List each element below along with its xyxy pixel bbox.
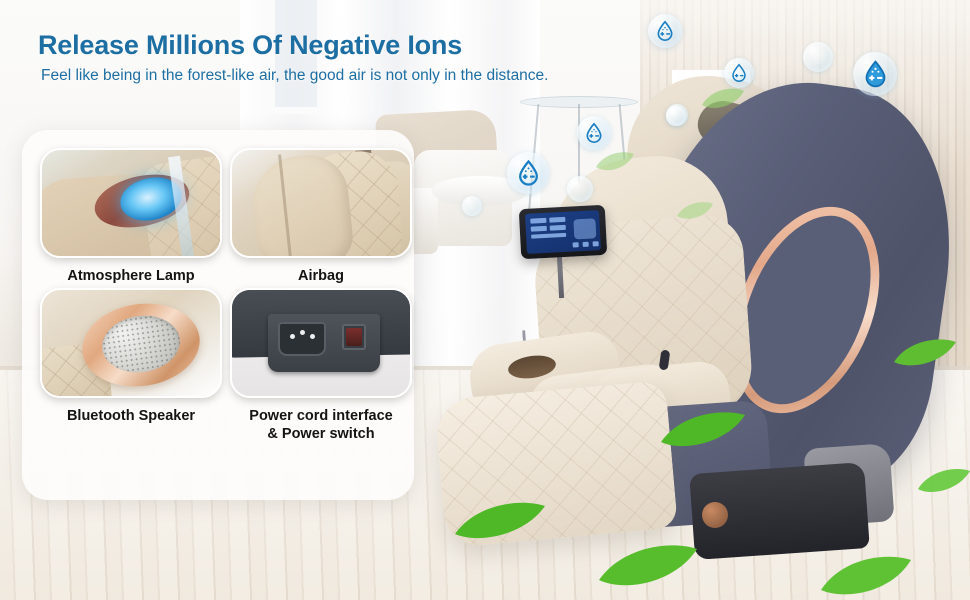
plain-bubble bbox=[803, 42, 833, 72]
negative-ion-droplet-icon bbox=[516, 159, 541, 187]
airbag-photo bbox=[230, 148, 412, 258]
bluetooth-speaker-photo bbox=[40, 288, 222, 398]
feature-card-label: Power cord interface & Power switch bbox=[223, 407, 419, 443]
floating-leaf bbox=[658, 408, 748, 452]
negative-ion-bubble bbox=[507, 152, 549, 194]
product-banner: Release Millions Of Negative Ions Feel l… bbox=[0, 0, 970, 600]
header-block: Release Millions Of Negative Ions Feel l… bbox=[38, 30, 738, 85]
feature-panel: Atmosphere Lamp Airbag Bluetooth Speaker bbox=[22, 130, 414, 500]
plain-bubble bbox=[666, 106, 686, 126]
floating-leaf bbox=[818, 552, 914, 600]
chair-control-tablet bbox=[519, 205, 607, 259]
page-title: Release Millions Of Negative Ions bbox=[38, 30, 738, 61]
page-subtitle: Feel like being in the forest-like air, … bbox=[41, 66, 738, 85]
floating-leaf bbox=[700, 86, 746, 112]
massage-chair bbox=[430, 70, 970, 570]
floating-leaf bbox=[916, 466, 970, 496]
negative-ion-droplet-icon bbox=[862, 59, 889, 89]
floating-leaf bbox=[675, 200, 715, 222]
atmosphere-lamp-photo bbox=[40, 148, 222, 258]
iec-power-socket bbox=[278, 322, 326, 356]
feature-card-label-line1: Power cord interface bbox=[249, 408, 392, 424]
feature-card-power-cord[interactable]: Power cord interface & Power switch bbox=[230, 288, 418, 458]
floating-leaf bbox=[596, 540, 700, 592]
floating-leaf bbox=[594, 150, 636, 174]
floating-leaf bbox=[892, 336, 958, 370]
plain-bubble bbox=[462, 196, 482, 216]
base-knob bbox=[702, 502, 728, 528]
feature-card-bluetooth-speaker[interactable]: Bluetooth Speaker bbox=[40, 288, 228, 458]
feature-card-label: Airbag bbox=[230, 267, 412, 285]
floating-leaf bbox=[452, 498, 548, 544]
feature-card-label: Atmosphere Lamp bbox=[40, 267, 222, 285]
plain-bubble bbox=[567, 176, 593, 202]
negative-ion-droplet-icon bbox=[584, 122, 604, 144]
feature-card-atmosphere-lamp[interactable]: Atmosphere Lamp bbox=[40, 148, 228, 288]
negative-ion-bubble bbox=[577, 116, 611, 150]
feature-card-label-line2: & Power switch bbox=[267, 426, 374, 442]
tablet-screen bbox=[525, 210, 601, 254]
feature-card-label: Bluetooth Speaker bbox=[40, 407, 222, 425]
power-cord-interface-photo bbox=[230, 288, 412, 398]
feature-card-airbag[interactable]: Airbag bbox=[230, 148, 418, 288]
negative-ion-bubble bbox=[853, 52, 897, 96]
